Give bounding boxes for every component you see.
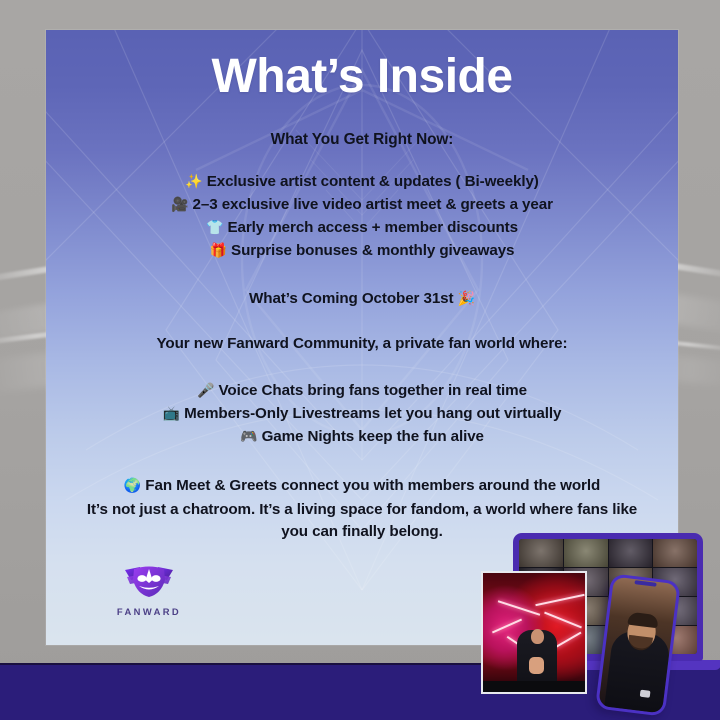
party-popper-emoji: 🎉 [458,290,475,306]
benefits-list: ✨ Exclusive artist content & updates ( B… [62,174,662,259]
gift-emoji: 🎁 [210,242,227,258]
movie-camera-emoji: 🎥 [171,196,188,212]
list-item: 🎥 2–3 exclusive live video artist meet &… [62,197,662,212]
microphone-emoji: 🎤 [197,382,214,398]
list-item-label: Early merch access + member discounts [227,219,518,236]
card-content: What’s Inside What You Get Right Now: ✨ … [46,30,678,543]
list-item: 🎤 Voice Chats bring fans together in rea… [62,383,662,398]
meet-greet-line: 🌍 Fan Meet & Greets connect you with mem… [62,478,662,493]
list-item: ✨ Exclusive artist content & updates ( B… [62,174,662,189]
framed-artist-photo [481,571,587,694]
video-game-emoji: 🎮 [240,428,257,444]
television-emoji: 📺 [163,405,180,421]
list-item-label: Exclusive artist content & updates ( Bi-… [207,173,539,190]
sub-heading: What You Get Right Now: [62,132,662,147]
page-title: What’s Inside [62,52,662,102]
list-item-label: Voice Chats bring fans together in real … [219,382,527,399]
community-intro-line: Your new Fanward Community, a private fa… [62,336,662,351]
coming-heading: What’s Coming October 31st 🎉 [62,291,662,306]
phone-screen [598,577,677,714]
participant-tile [564,539,608,567]
brand-logo: FANWARD [110,563,188,617]
participant-tile [519,539,563,567]
globe-emoji: 🌍 [124,477,141,493]
list-item-label: 2–3 exclusive live video artist meet & g… [193,196,553,213]
sparkles-emoji: ✨ [185,173,202,189]
list-item: 📺 Members-Only Livestreams let you hang … [62,406,662,421]
device-mockup-cluster [455,520,720,720]
list-item: 👕 Early merch access + member discounts [62,220,662,235]
artist-hand [529,657,544,674]
stage-floor [483,681,585,692]
meet-greet-label: Fan Meet & Greets connect you with membe… [145,477,600,494]
coming-heading-label: What’s Coming October 31st [249,290,453,307]
caller-watch [640,690,651,698]
list-item: 🎁 Surprise bonuses & monthly giveaways [62,243,662,258]
fanward-mask-logo-icon [123,563,175,599]
participant-tile [653,539,697,567]
features-list: 🎤 Voice Chats bring fans together in rea… [62,383,662,445]
list-item-label: Game Nights keep the fun alive [262,428,484,445]
artist-head [531,629,544,644]
list-item-label: Members-Only Livestreams let you hang ou… [184,405,561,422]
list-item: 🎮 Game Nights keep the fun alive [62,429,662,444]
participant-tile [609,539,653,567]
logo-wordmark: FANWARD [110,606,188,617]
tshirt-emoji: 👕 [206,219,223,235]
screenshot-root: What’s Inside What You Get Right Now: ✨ … [0,0,720,720]
list-item-label: Surprise bonuses & monthly giveaways [231,242,514,259]
